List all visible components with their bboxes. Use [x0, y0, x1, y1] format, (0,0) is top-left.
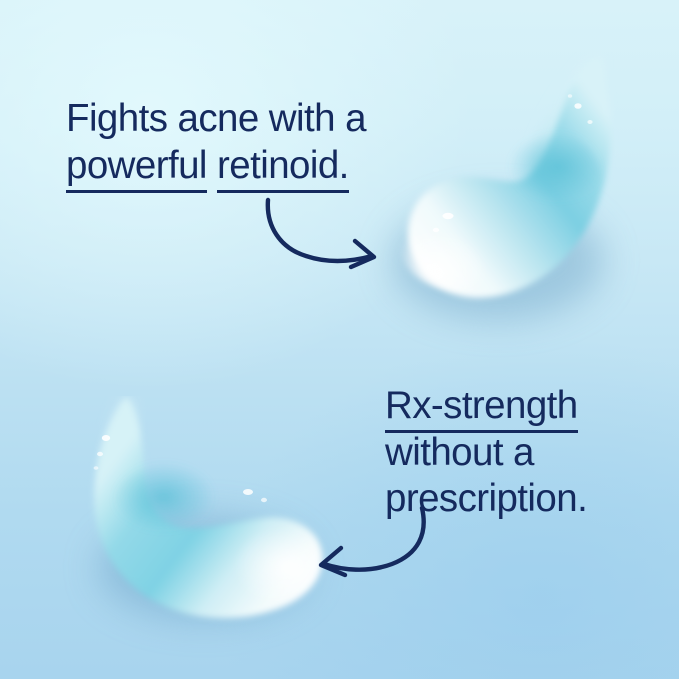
marketing-graphic-canvas: Fights acne with a powerful retinoid. Rx…: [0, 0, 679, 679]
callout-text-fights-acne: Fights acne with a powerful retinoid.: [66, 96, 366, 189]
callout-top-space: [207, 144, 217, 187]
callout-top-line-2: powerful retinoid.: [66, 143, 366, 190]
callout-top-underlined-word-2: retinoid.: [217, 144, 349, 193]
callout-bottom-line-1: Rx-strength: [385, 383, 587, 430]
callout-text-rx-strength: Rx-strength without a prescription.: [385, 383, 587, 523]
callout-bottom-underlined-word-1: Rx-strength: [385, 384, 578, 433]
callout-bottom-line-2: without a: [385, 430, 587, 477]
callout-top-line-1: Fights acne with a: [66, 96, 366, 143]
callout-bottom-line-3: prescription.: [385, 476, 587, 523]
callout-top-underlined-word-1: powerful: [66, 144, 207, 193]
